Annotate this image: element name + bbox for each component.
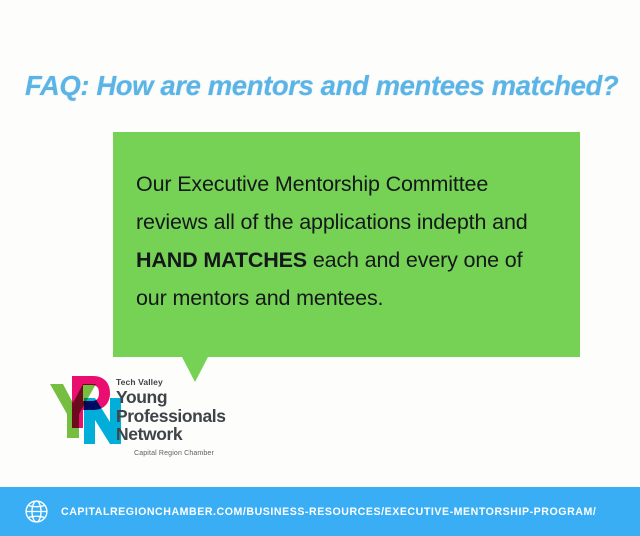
answer-callout-text: Our Executive Mentorship Committee revie… (136, 165, 556, 317)
footer-url-text[interactable]: CAPITALREGIONCHAMBER.COM/BUSINESS-RESOUR… (61, 506, 596, 518)
answer-text-emphasis: HAND MATCHES (136, 248, 307, 272)
logo-line-professionals: Professionals (116, 407, 266, 426)
globe-icon (24, 499, 49, 524)
ypn-wordmark: Tech Valley Young Professionals Network … (116, 377, 266, 457)
logo-tagline: Capital Region Chamber (134, 450, 266, 457)
logo-line-network: Network (116, 425, 266, 444)
ypn-monogram-icon (48, 372, 124, 448)
ypn-logo: Tech Valley Young Professionals Network … (48, 372, 263, 460)
page-title: FAQ: How are mentors and mentees matched… (25, 70, 625, 102)
footer-url-bar: CAPITALREGIONCHAMBER.COM/BUSINESS-RESOUR… (0, 487, 640, 536)
answer-text-part-1: Our Executive Mentorship Committee revie… (136, 172, 528, 234)
answer-callout-box: Our Executive Mentorship Committee revie… (113, 132, 580, 357)
logo-line-young: Young (116, 388, 266, 407)
slide-canvas: FAQ: How are mentors and mentees matched… (0, 0, 640, 536)
logo-eyebrow: Tech Valley (116, 377, 266, 387)
